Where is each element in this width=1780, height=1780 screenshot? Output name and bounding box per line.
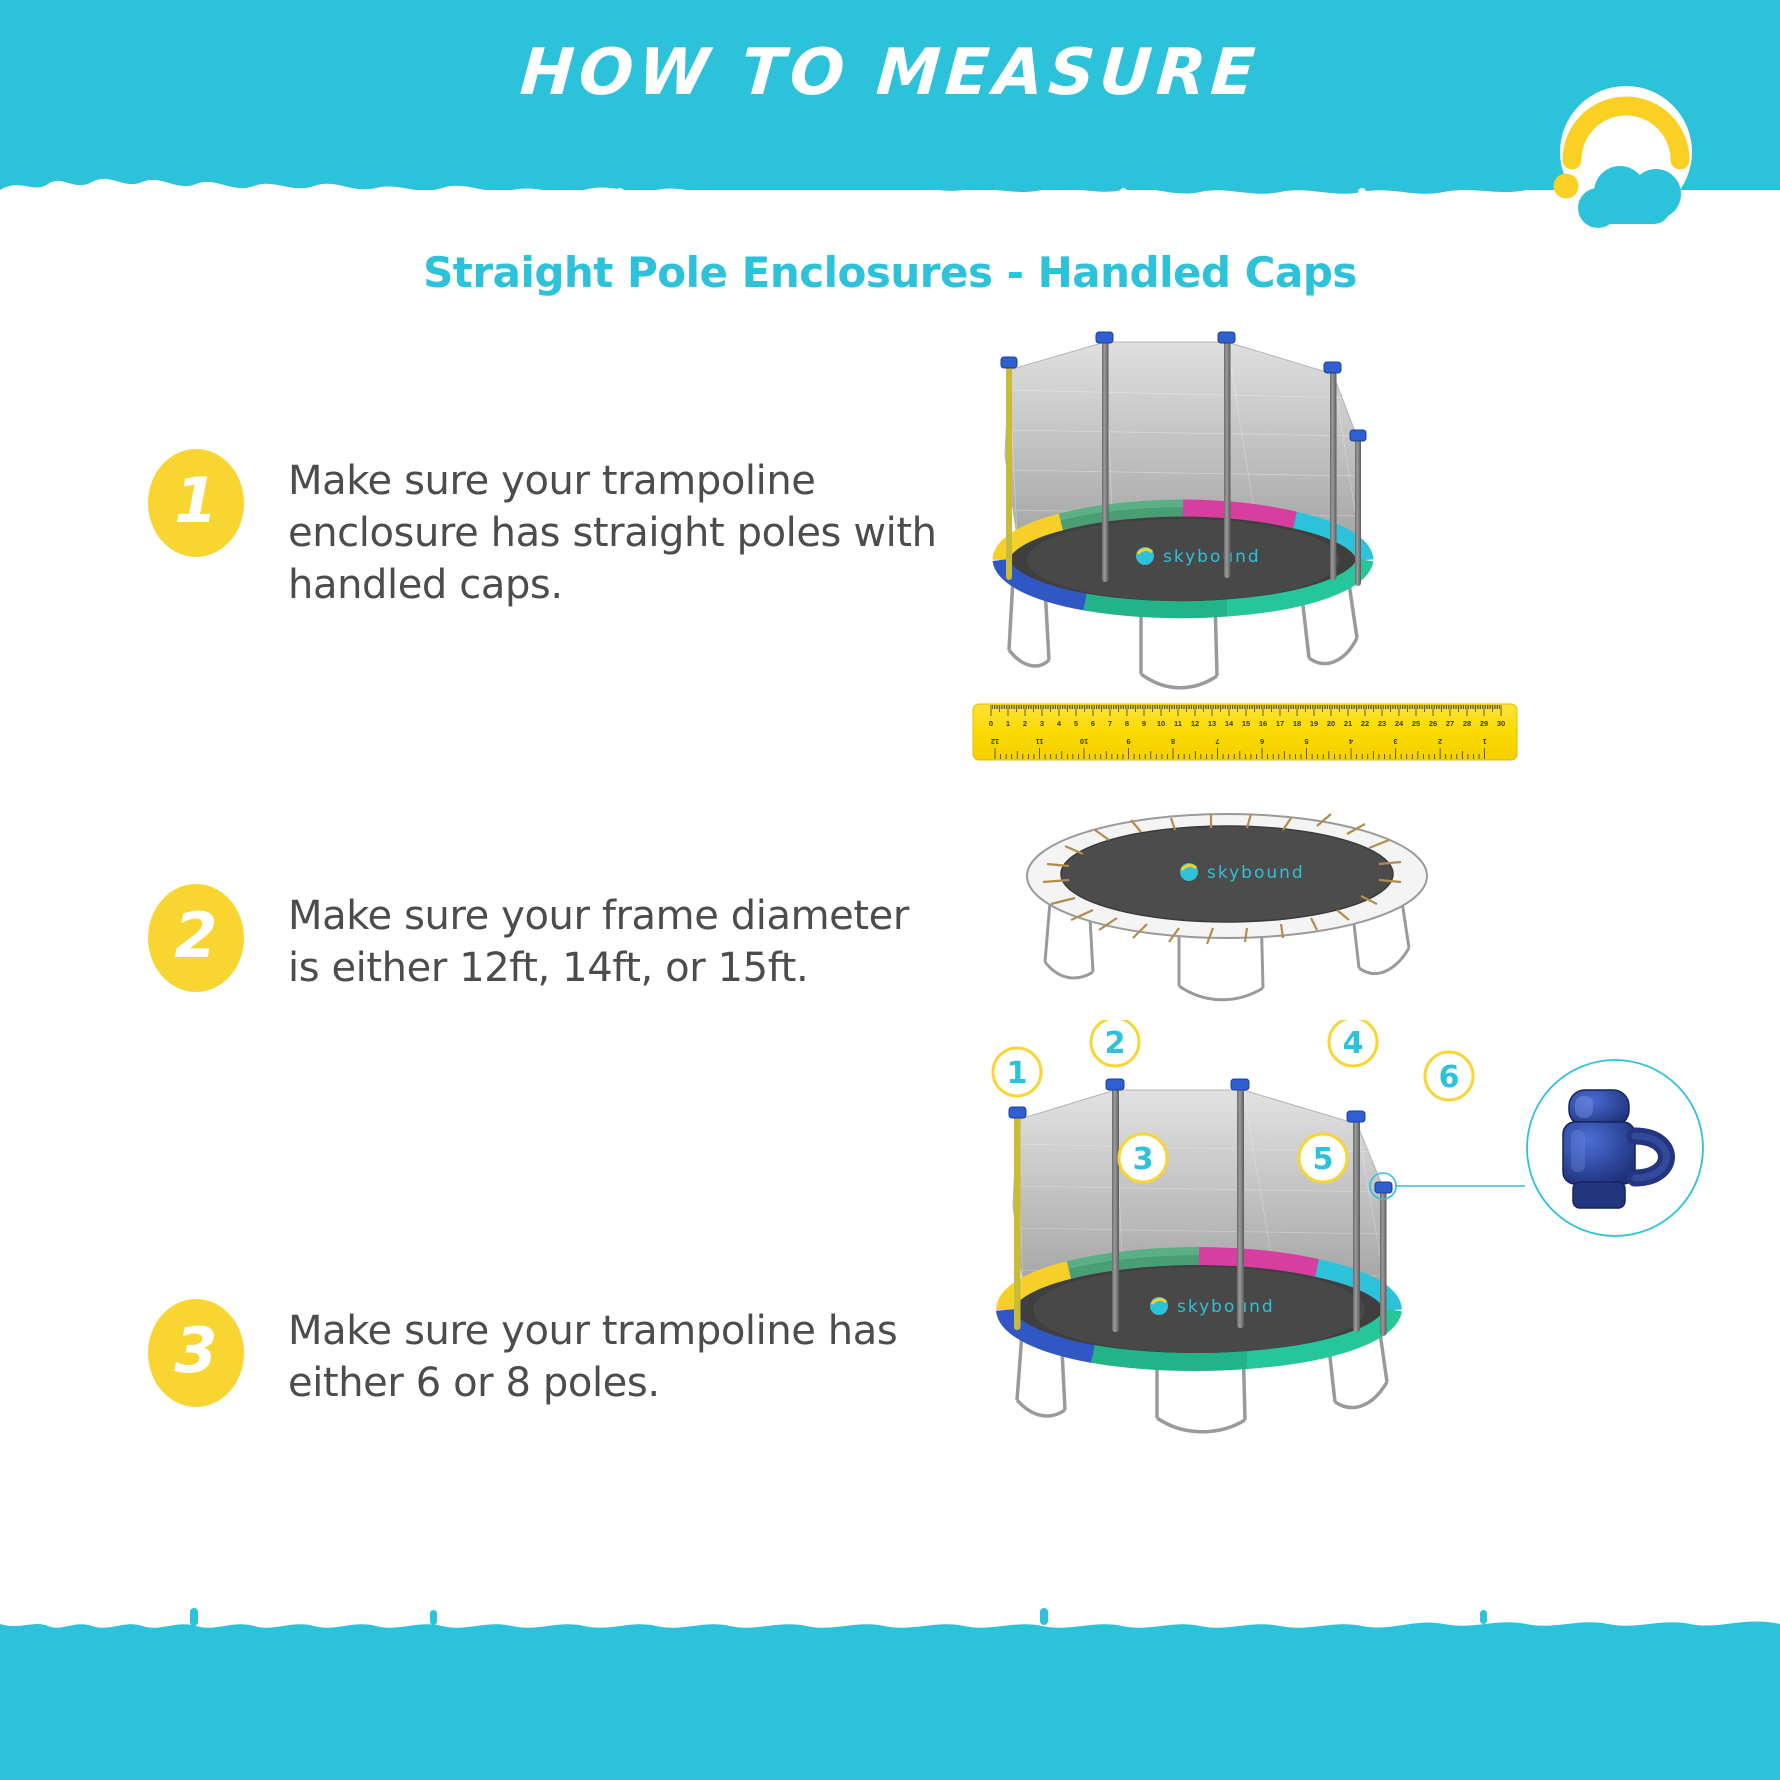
svg-text:24: 24 [1395, 719, 1404, 728]
footer-band [0, 1630, 1780, 1780]
svg-text:2: 2 [1105, 1026, 1126, 1061]
pole-callout-3: 3 [1119, 1134, 1167, 1182]
svg-text:18: 18 [1293, 719, 1301, 728]
step-number-1: 1 [174, 470, 217, 532]
svg-text:27: 27 [1446, 719, 1454, 728]
svg-text:13: 13 [1208, 719, 1216, 728]
svg-text:3: 3 [1133, 1142, 1154, 1177]
step-number-3: 3 [174, 1320, 217, 1382]
infographic-page: HOW TO MEASURE Straight Pole Enclosures … [0, 0, 1780, 1780]
svg-text:5: 5 [1313, 1142, 1334, 1177]
svg-text:9: 9 [1126, 737, 1130, 746]
svg-text:3: 3 [1393, 737, 1397, 746]
svg-text:22: 22 [1361, 719, 1369, 728]
svg-text:17: 17 [1276, 719, 1284, 728]
pole-callout-2: 2 [1091, 1020, 1139, 1066]
svg-text:6: 6 [1260, 737, 1264, 746]
step-text-3: Make sure your trampoline has either 6 o… [288, 1305, 948, 1409]
svg-text:skybound: skybound [1177, 1297, 1275, 1317]
step-text-1: Make sure your trampoline enclosure has … [288, 455, 948, 611]
step-badge-2: 2 [148, 884, 244, 992]
svg-text:7: 7 [1215, 737, 1219, 746]
pole-callout-4: 4 [1329, 1020, 1377, 1066]
step-item-2: 2 Make sure your frame diameter is eithe… [148, 890, 948, 994]
svg-text:8: 8 [1125, 719, 1129, 728]
svg-text:7: 7 [1108, 719, 1112, 728]
svg-text:28: 28 [1463, 719, 1471, 728]
pole-callout-5: 5 [1299, 1134, 1347, 1182]
svg-text:14: 14 [1225, 719, 1234, 728]
svg-text:29: 29 [1480, 719, 1488, 728]
svg-text:26: 26 [1429, 719, 1437, 728]
illustration-trampoline-ruler: 0123456789101112131415161718192021222324… [965, 700, 1525, 1020]
svg-text:6: 6 [1439, 1060, 1460, 1095]
handled-cap-zoom [1370, 1060, 1703, 1236]
svg-text:2: 2 [1023, 719, 1027, 728]
svg-text:8: 8 [1171, 737, 1175, 746]
svg-text:3: 3 [1040, 719, 1044, 728]
svg-text:23: 23 [1378, 719, 1386, 728]
svg-text:12: 12 [1191, 719, 1199, 728]
svg-text:9: 9 [1142, 719, 1146, 728]
pole-callout-1: 1 [993, 1048, 1041, 1096]
svg-text:1: 1 [1483, 737, 1487, 746]
svg-text:20: 20 [1327, 719, 1335, 728]
svg-text:0: 0 [989, 719, 993, 728]
svg-text:1: 1 [1006, 719, 1010, 728]
step-badge-3: 3 [148, 1299, 244, 1407]
svg-text:19: 19 [1310, 719, 1318, 728]
illustration-numbered-poles: skybound 1 [965, 1020, 1755, 1440]
svg-text:5: 5 [1074, 719, 1078, 728]
svg-text:10: 10 [1157, 719, 1165, 728]
svg-text:12: 12 [991, 737, 999, 746]
svg-text:16: 16 [1259, 719, 1267, 728]
step-item-3: 3 Make sure your trampoline has either 6… [148, 1305, 948, 1409]
svg-text:6: 6 [1091, 719, 1095, 728]
svg-text:10: 10 [1080, 737, 1088, 746]
illustration-trampoline-enclosure: skybound [965, 330, 1435, 690]
svg-text:skybound: skybound [1207, 863, 1305, 883]
svg-text:2: 2 [1438, 737, 1442, 746]
step-number-2: 2 [174, 905, 217, 967]
svg-text:21: 21 [1344, 719, 1352, 728]
step-item-1: 1 Make sure your trampoline enclosure ha… [148, 455, 948, 611]
svg-text:11: 11 [1174, 719, 1182, 728]
svg-text:15: 15 [1242, 719, 1250, 728]
yellow-ruler: 0123456789101112131415161718192021222324… [973, 704, 1517, 760]
step-badge-1: 1 [148, 449, 244, 557]
svg-text:skybound: skybound [1163, 547, 1261, 567]
svg-text:30: 30 [1497, 719, 1505, 728]
step-text-2: Make sure your frame diameter is either … [288, 890, 948, 994]
svg-text:4: 4 [1343, 1026, 1364, 1061]
svg-text:11: 11 [1036, 737, 1044, 746]
pole-callout-6: 6 [1425, 1052, 1473, 1100]
svg-text:5: 5 [1304, 737, 1308, 746]
svg-text:1: 1 [1007, 1056, 1028, 1091]
svg-text:25: 25 [1412, 719, 1420, 728]
